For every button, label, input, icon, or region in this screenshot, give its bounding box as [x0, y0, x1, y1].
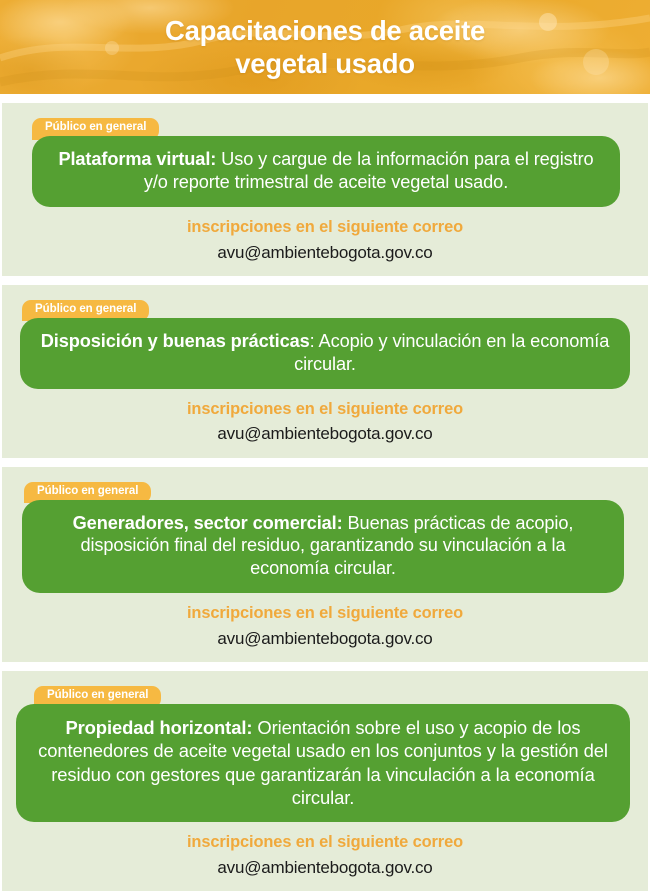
contact-email[interactable]: avu@ambientebogota.gov.co: [16, 238, 634, 263]
card-footer: inscripciones en el siguiente correo avu…: [16, 593, 634, 649]
page-title: Capacitaciones de aceite vegetal usado: [0, 0, 650, 94]
contact-email[interactable]: avu@ambientebogota.gov.co: [16, 853, 634, 878]
training-description-box: Generadores, sector comercial: Buenas pr…: [22, 500, 624, 594]
training-card: Público en general Generadores, sector c…: [2, 467, 648, 663]
training-description-box: Propiedad horizontal: Orientación sobre …: [16, 704, 630, 822]
page-title-line-2: vegetal usado: [235, 47, 415, 80]
page-title-line-1: Capacitaciones de aceite: [165, 14, 485, 47]
signup-label: inscripciones en el siguiente correo: [16, 400, 634, 420]
signup-label: inscripciones en el siguiente correo: [16, 833, 634, 853]
training-card: Público en general Propiedad horizontal:…: [2, 671, 648, 891]
contact-email[interactable]: avu@ambientebogota.gov.co: [16, 419, 634, 444]
poster-page: Capacitaciones de aceite vegetal usado P…: [0, 0, 650, 891]
training-description-box: Plataforma virtual: Uso y cargue de la i…: [32, 136, 620, 207]
training-card: Público en general Plataforma virtual: U…: [2, 103, 648, 276]
contact-email[interactable]: avu@ambientebogota.gov.co: [16, 624, 634, 649]
training-title: Disposición y buenas prácticas: [41, 331, 310, 351]
training-title: Plataforma virtual:: [58, 149, 216, 169]
signup-label: inscripciones en el siguiente correo: [16, 604, 634, 624]
card-footer: inscripciones en el siguiente correo avu…: [16, 207, 634, 263]
training-card: Público en general Disposición y buenas …: [2, 285, 648, 458]
training-title: Generadores, sector comercial:: [73, 513, 343, 533]
training-body: : Acopio y vinculación en la economía ci…: [294, 331, 609, 374]
signup-label: inscripciones en el siguiente correo: [16, 218, 634, 238]
training-title: Propiedad horizontal:: [65, 717, 252, 738]
card-footer: inscripciones en el siguiente correo avu…: [16, 389, 634, 445]
card-footer: inscripciones en el siguiente correo avu…: [16, 822, 634, 878]
training-description-box: Disposición y buenas prácticas: Acopio y…: [20, 318, 630, 389]
header-banner: Capacitaciones de aceite vegetal usado: [0, 0, 650, 94]
training-card-list: Público en general Plataforma virtual: U…: [0, 103, 650, 891]
